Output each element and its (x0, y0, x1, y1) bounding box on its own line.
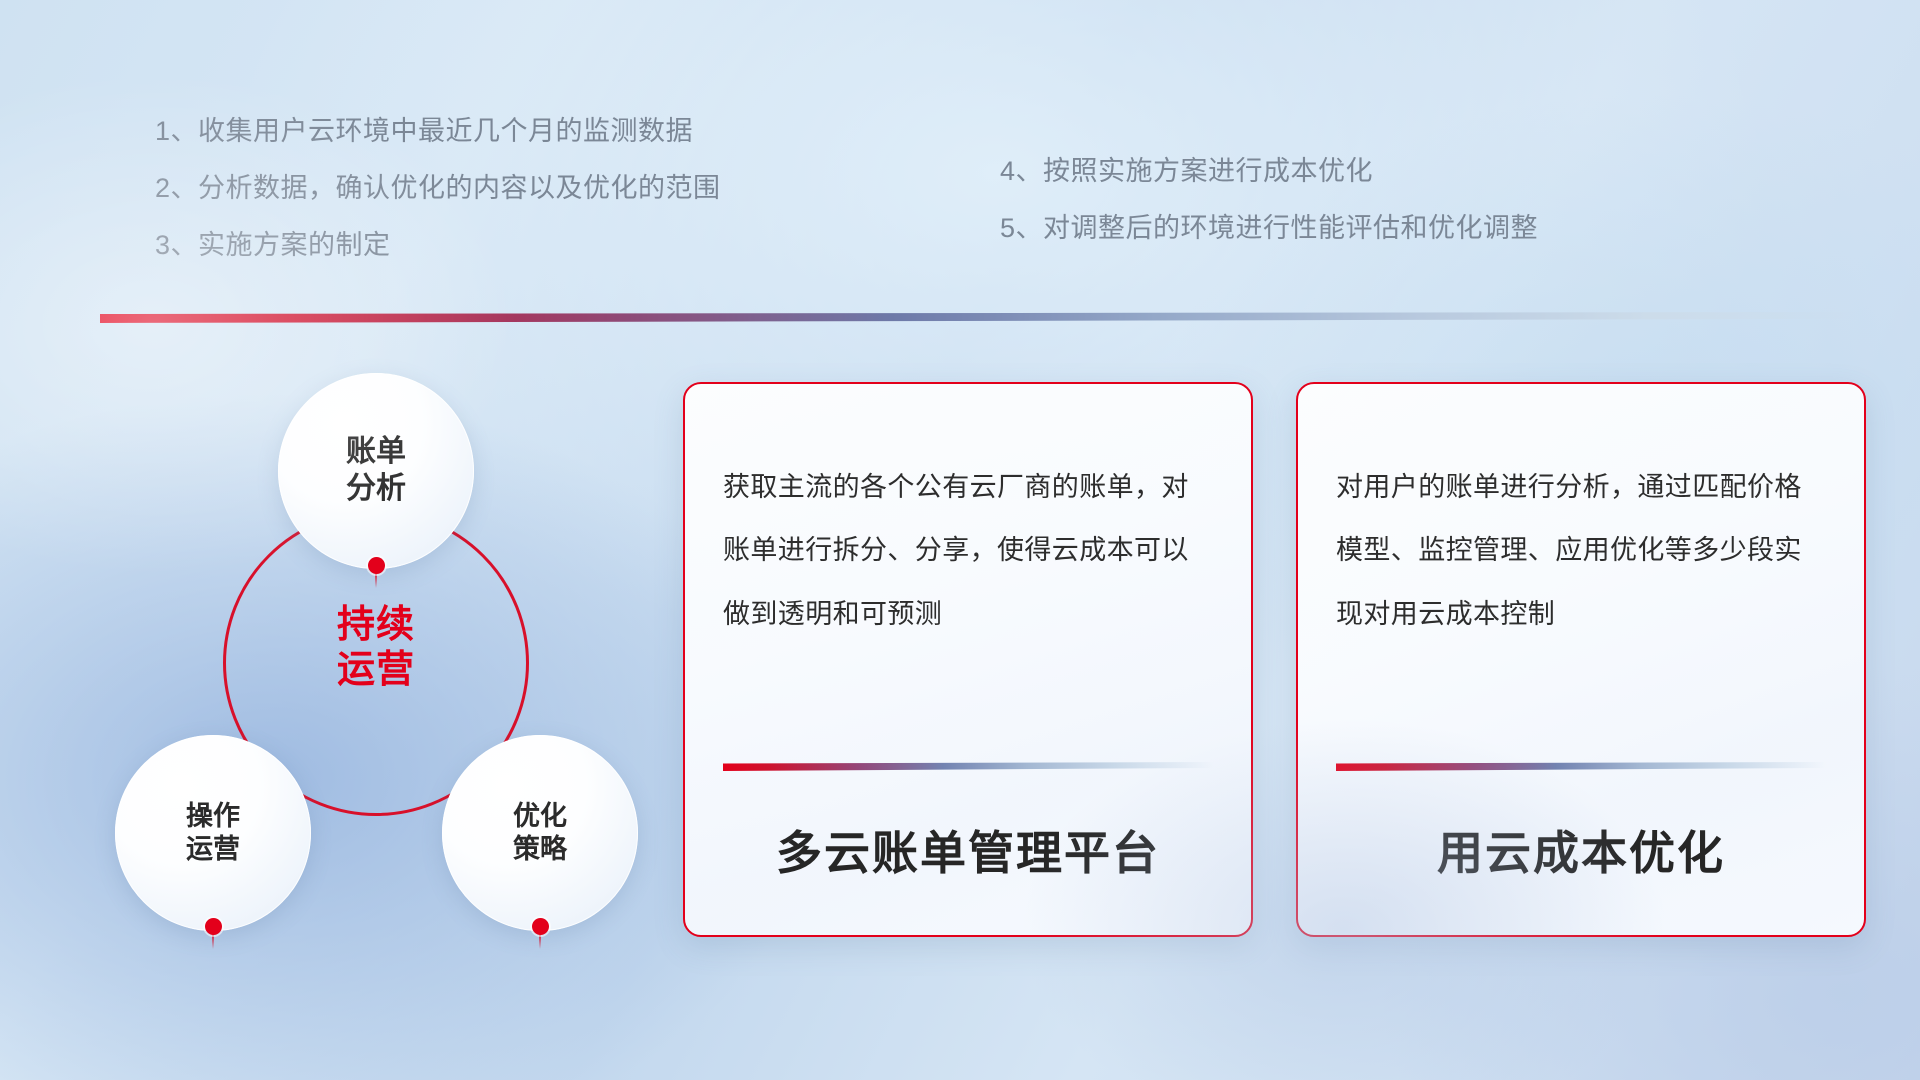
bubble-label-line1: 优化 (513, 800, 567, 833)
step-item: 1、收集用户云环境中最近几个月的监测数据 (155, 118, 721, 145)
feature-card-multicloud-billing[interactable]: 获取主流的各个公有云厂商的账单，对账单进行拆分、分享，使得云成本可以做到透明和可… (683, 382, 1253, 937)
node-dot-icon (368, 557, 385, 574)
bubble-bill-analysis[interactable]: 账单 分析 (278, 373, 474, 569)
diagram-center-label: 持续 运营 (291, 603, 461, 693)
step-item: 4、按照实施方案进行成本优化 (1000, 158, 1538, 185)
section-divider-bar (100, 312, 1860, 323)
connector-tick-icon (375, 572, 377, 588)
bubble-label-line2: 策略 (513, 833, 567, 866)
node-dot-icon (532, 918, 549, 935)
center-label-line1: 持续 (291, 603, 461, 648)
step-item: 3、实施方案的制定 (155, 232, 721, 259)
steps-list-left: 1、收集用户云环境中最近几个月的监测数据 2、分析数据，确认优化的内容以及优化的… (155, 118, 721, 289)
bubble-label-line2: 分析 (346, 471, 406, 508)
card-body-text: 获取主流的各个公有云厂商的账单，对账单进行拆分、分享，使得云成本可以做到透明和可… (723, 456, 1213, 646)
card-divider-bar (1336, 762, 1826, 771)
step-item: 5、对调整后的环境进行性能评估和优化调整 (1000, 215, 1538, 242)
step-item: 2、分析数据，确认优化的内容以及优化的范围 (155, 175, 721, 202)
bubble-label-line1: 操作 (186, 800, 240, 833)
bubble-label-line2: 运营 (186, 833, 240, 866)
bubble-operations[interactable]: 操作 运营 (115, 735, 311, 931)
slide-canvas: 1、收集用户云环境中最近几个月的监测数据 2、分析数据，确认优化的内容以及优化的… (0, 0, 1920, 1080)
card-title: 多云账单管理平台 (723, 817, 1213, 883)
card-divider-bar (723, 762, 1213, 771)
card-title: 用云成本优化 (1336, 817, 1826, 883)
connector-tick-icon (539, 933, 541, 949)
center-label-line2: 运营 (291, 648, 461, 693)
feature-card-cost-optimization[interactable]: 对用户的账单进行分析，通过匹配价格模型、监控管理、应用优化等多少段实现对用云成本… (1296, 382, 1866, 937)
venn-diagram: 账单 分析 操作 运营 优化 策略 持续 运营 (95, 350, 635, 950)
steps-list-right: 4、按照实施方案进行成本优化 5、对调整后的环境进行性能评估和优化调整 (1000, 158, 1538, 272)
node-dot-icon (205, 918, 222, 935)
card-body-text: 对用户的账单进行分析，通过匹配价格模型、监控管理、应用优化等多少段实现对用云成本… (1336, 456, 1826, 646)
bubble-label-line1: 账单 (346, 434, 406, 471)
bubble-optimization-strategy[interactable]: 优化 策略 (442, 735, 638, 931)
connector-tick-icon (212, 933, 214, 949)
